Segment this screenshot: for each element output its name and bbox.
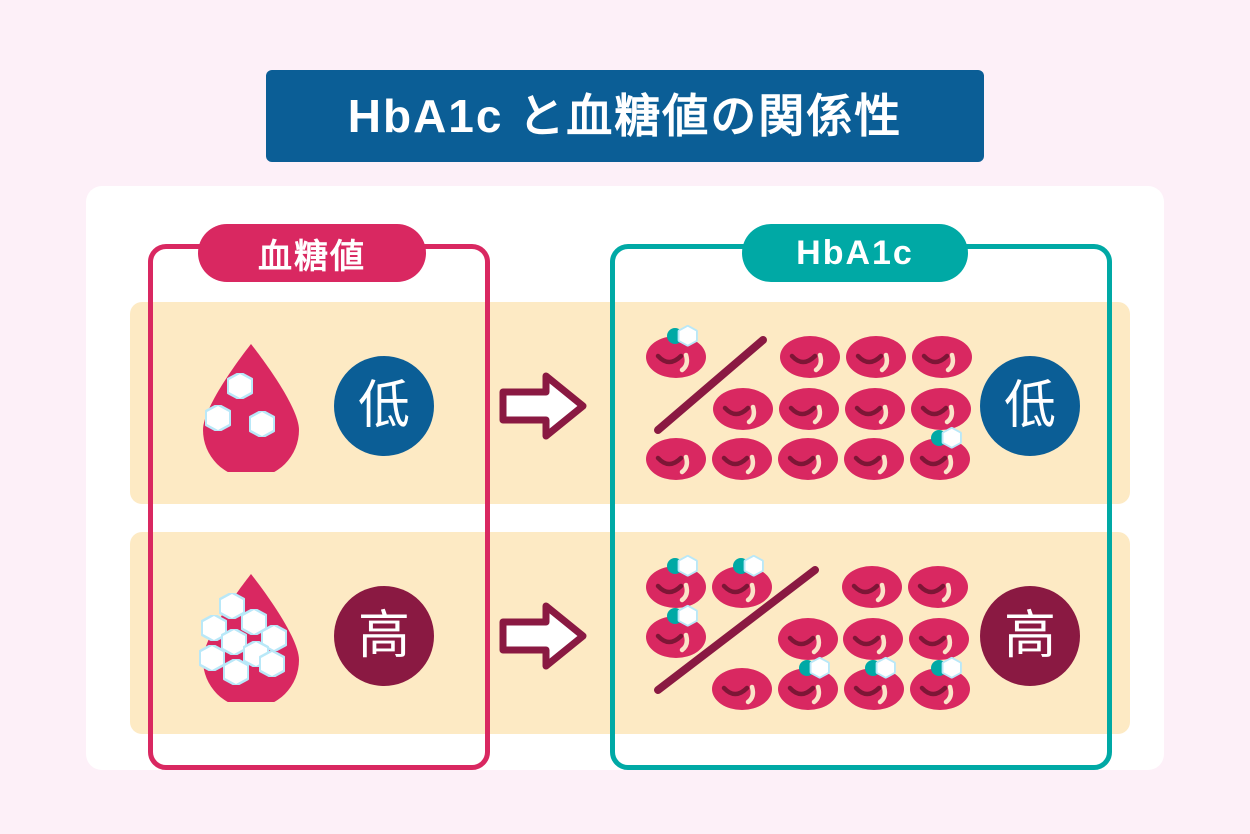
hba1c-level-badge-high: 高 bbox=[980, 586, 1080, 686]
blood-drop-low bbox=[196, 342, 306, 472]
red-blood-cell-icon bbox=[845, 332, 907, 378]
red-blood-cell-icon bbox=[841, 562, 903, 608]
red-blood-cell-icon bbox=[907, 562, 969, 608]
glycated-red-blood-cell-icon bbox=[645, 612, 707, 658]
glycated-red-blood-cell-icon bbox=[777, 664, 839, 710]
rbc-grid-low bbox=[645, 332, 975, 482]
red-blood-cell-icon bbox=[712, 384, 774, 430]
group-label-glucose-text: 血糖値 bbox=[258, 229, 366, 278]
page-title-banner: HbA1c と血糖値の関係性 bbox=[266, 70, 984, 162]
glycated-red-blood-cell-icon bbox=[711, 562, 773, 608]
red-blood-cell-icon bbox=[844, 384, 906, 430]
red-blood-cell-icon bbox=[777, 614, 839, 660]
flow-arrow-high bbox=[498, 600, 588, 672]
glucose-molecule-icon bbox=[199, 645, 225, 671]
glucose-level-badge-low: 低 bbox=[334, 356, 434, 456]
glucose-molecule-icon bbox=[259, 651, 285, 677]
hba1c-level-label-high: 高 bbox=[1004, 610, 1056, 662]
flow-arrow-low bbox=[498, 370, 588, 442]
group-label-hba1c: HbA1c bbox=[742, 224, 968, 282]
blood-drop-high bbox=[196, 572, 306, 702]
red-blood-cell-icon bbox=[777, 434, 839, 480]
red-blood-cell-icon bbox=[711, 434, 773, 480]
red-blood-cell-icon bbox=[842, 614, 904, 660]
group-label-glucose: 血糖値 bbox=[198, 224, 426, 282]
red-blood-cell-icon bbox=[778, 384, 840, 430]
page-title: HbA1c と血糖値の関係性 bbox=[348, 93, 902, 139]
glucose-molecule-icon bbox=[249, 411, 275, 437]
rbc-grid-high bbox=[645, 562, 975, 712]
glucose-level-label-high: 高 bbox=[358, 610, 410, 662]
glucose-molecule-icon bbox=[227, 373, 253, 399]
group-label-hba1c-text: HbA1c bbox=[796, 234, 914, 273]
hba1c-level-label-low: 低 bbox=[1004, 380, 1056, 432]
red-blood-cell-icon bbox=[910, 384, 972, 430]
hba1c-level-badge-low: 低 bbox=[980, 356, 1080, 456]
glucose-level-label-low: 低 bbox=[358, 380, 410, 432]
glycated-red-blood-cell-icon bbox=[843, 664, 905, 710]
red-blood-cell-icon bbox=[645, 434, 707, 480]
red-blood-cell-icon bbox=[908, 614, 970, 660]
glycated-red-blood-cell-icon bbox=[645, 332, 707, 378]
red-blood-cell-icon bbox=[911, 332, 973, 378]
glucose-molecule-icon bbox=[223, 659, 249, 685]
glycated-red-blood-cell-icon bbox=[909, 434, 971, 480]
red-blood-cell-icon bbox=[779, 332, 841, 378]
glucose-level-badge-high: 高 bbox=[334, 586, 434, 686]
red-blood-cell-icon bbox=[711, 664, 773, 710]
glucose-molecule-icon bbox=[205, 405, 231, 431]
glycated-red-blood-cell-icon bbox=[645, 562, 707, 608]
red-blood-cell-icon bbox=[843, 434, 905, 480]
glycated-red-blood-cell-icon bbox=[909, 664, 971, 710]
